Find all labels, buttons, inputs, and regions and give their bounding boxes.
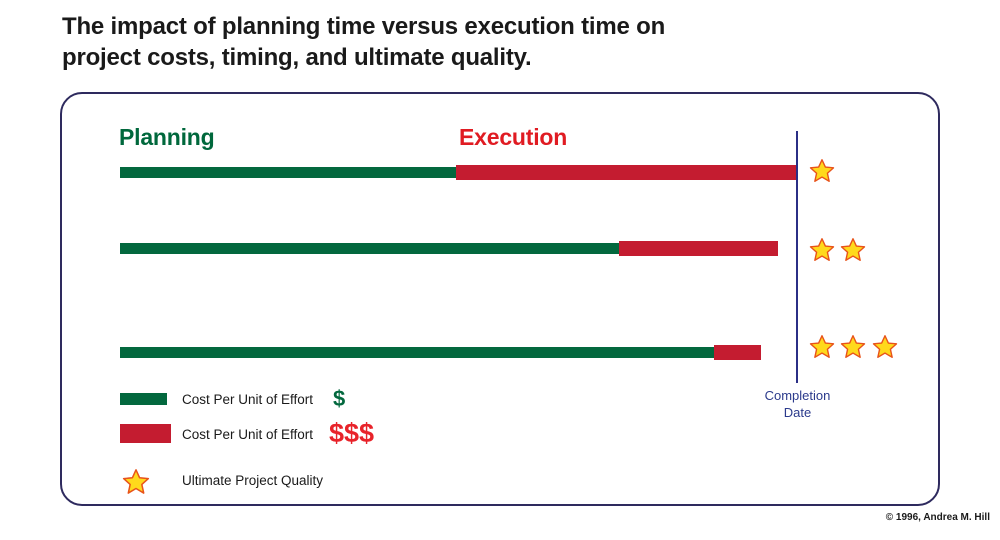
legend-cost-planning: $ — [333, 386, 345, 412]
completion-date-label-line-1: Completion — [745, 388, 850, 405]
quality-star-icon — [840, 334, 866, 360]
phase-label-planning: Planning — [119, 124, 215, 151]
quality-star-icon — [872, 334, 898, 360]
completion-date-line — [796, 131, 798, 383]
bar-row1-planning — [120, 167, 456, 178]
bar-row2-planning — [120, 243, 619, 254]
bar-row1-execution — [456, 165, 797, 180]
completion-date-label: Completion Date — [745, 388, 850, 421]
quality-star-icon — [840, 237, 866, 263]
legend-swatch-execution — [120, 424, 171, 443]
legend-label-execution: Cost Per Unit of Effort — [182, 427, 313, 442]
quality-star-icon — [809, 334, 835, 360]
phase-label-execution: Execution — [459, 124, 567, 151]
legend-label-quality: Ultimate Project Quality — [182, 473, 323, 488]
bar-row3-planning — [120, 347, 714, 358]
page-title-line-1: The impact of planning time versus execu… — [62, 12, 922, 43]
legend-cost-execution: $$$ — [329, 418, 374, 449]
page-title: The impact of planning time versus execu… — [62, 12, 922, 73]
diagram-frame — [60, 92, 940, 506]
bar-row2-execution — [619, 241, 778, 256]
legend-star-icon — [122, 468, 150, 496]
quality-star-icon — [809, 158, 835, 184]
diagram-page: The impact of planning time versus execu… — [0, 0, 1000, 540]
completion-date-label-line-2: Date — [745, 405, 850, 422]
copyright-notice: © 1996, Andrea M. Hill — [886, 512, 990, 523]
legend-swatch-planning — [120, 393, 167, 405]
quality-star-icon — [809, 237, 835, 263]
page-title-line-2: project costs, timing, and ultimate qual… — [62, 43, 922, 74]
bar-row3-execution — [714, 345, 761, 360]
legend-label-planning: Cost Per Unit of Effort — [182, 392, 313, 407]
